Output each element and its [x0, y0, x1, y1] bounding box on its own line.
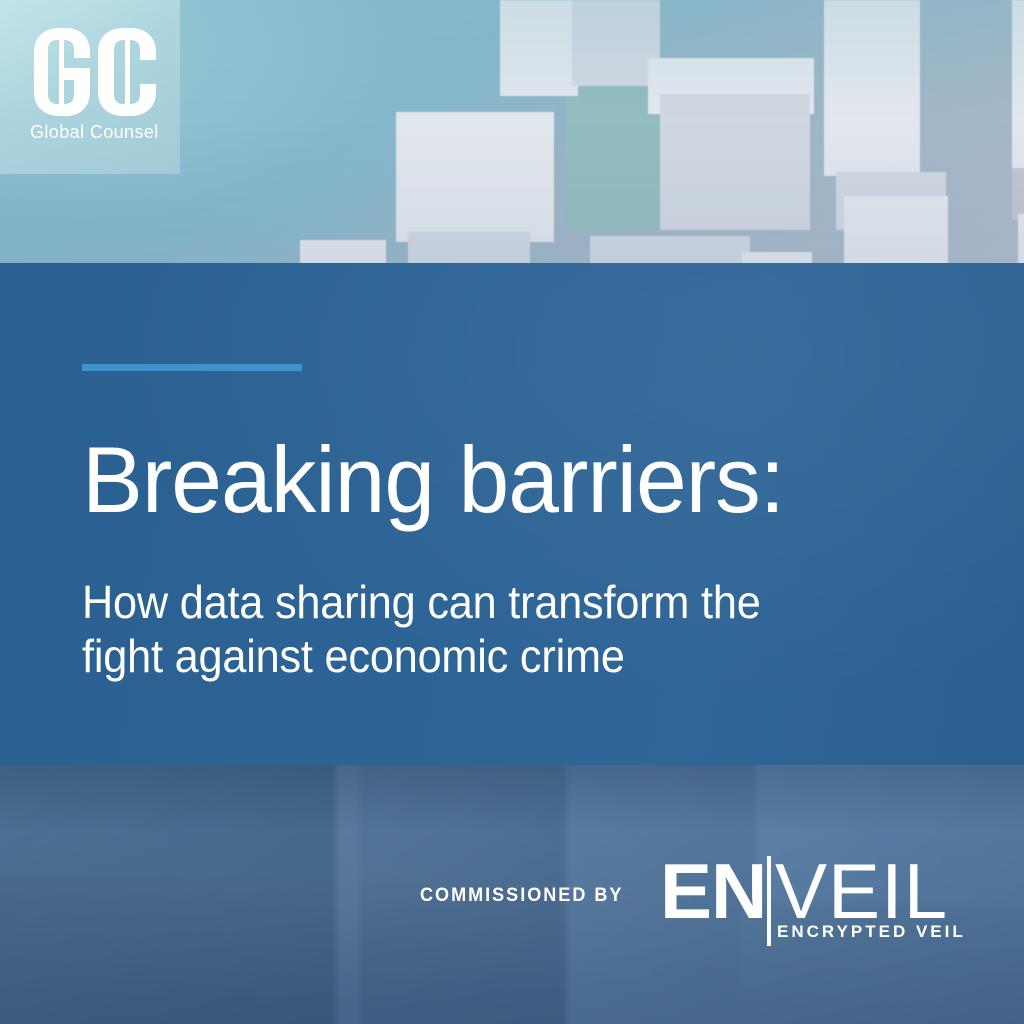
- gc-monogram-icon: [32, 28, 156, 116]
- report-cover: Global Counsel Breaking barriers: How da…: [0, 0, 1024, 1024]
- accent-rule: [82, 364, 302, 371]
- commissioned-by-label: COMMISSIONED BY: [420, 885, 623, 907]
- page-title: Breaking barriers:: [82, 433, 916, 527]
- enveil-sponsor-logo: EN VEIL ENCRYPTED VEIL: [660, 852, 970, 948]
- title-band: Breaking barriers: How data sharing can …: [0, 263, 1024, 765]
- enveil-wordmark-veil: VEIL: [775, 852, 948, 930]
- enveil-tagline: ENCRYPTED VEIL: [777, 922, 966, 942]
- brand-name: Global Counsel: [30, 122, 159, 143]
- global-counsel-logo-panel: Global Counsel: [0, 0, 180, 174]
- enveil-divider-bar: [767, 856, 771, 946]
- enveil-wordmark-en: EN: [660, 852, 766, 930]
- page-subtitle: How data sharing can transform the fight…: [82, 575, 825, 684]
